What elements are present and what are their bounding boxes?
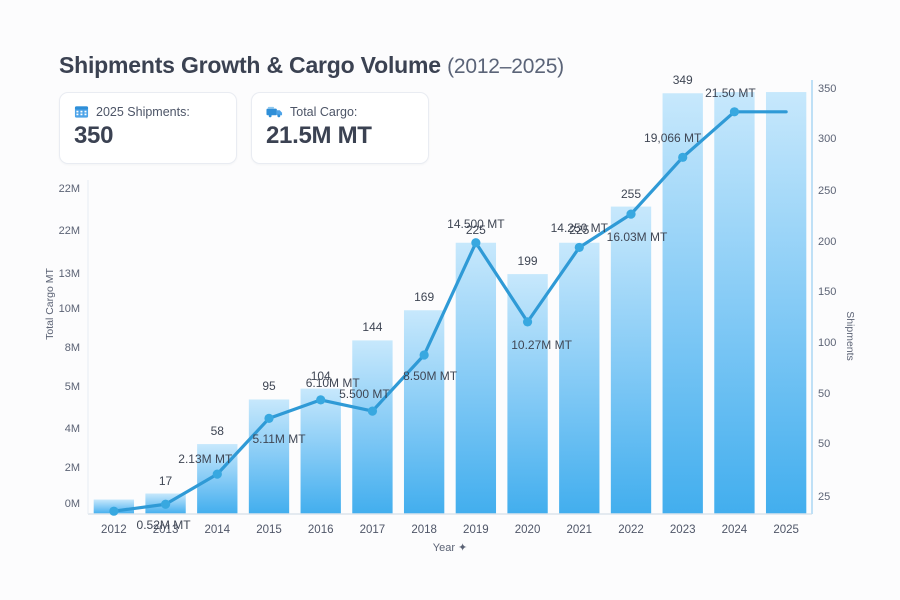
bar-label-2013: 17 — [136, 474, 196, 488]
bar-2020[interactable] — [507, 274, 547, 514]
title-main: Shipments Growth & Cargo Volume — [59, 52, 441, 78]
bar-2017[interactable] — [352, 340, 392, 514]
calendar-icon — [74, 104, 89, 119]
kpi-value-cargo: 21.5M MT — [266, 122, 412, 150]
y-tick-right-2: 250 — [818, 185, 862, 197]
y-tick-right-5: 100 — [818, 337, 862, 349]
line-label-2022: 16.03M MT — [589, 230, 685, 244]
line-label-2023: 19,066 MT — [625, 131, 721, 145]
bar-2018[interactable] — [404, 310, 444, 514]
marker-2019[interactable] — [471, 238, 480, 247]
bar-2015[interactable] — [249, 399, 289, 514]
bar-label-2018: 169 — [394, 290, 454, 304]
marker-2021[interactable] — [575, 243, 584, 252]
y-tick-right-4: 150 — [818, 286, 862, 298]
marker-2015[interactable] — [264, 414, 273, 423]
y-tick-left-8: 0M — [36, 498, 80, 510]
y-tick-left-3: 10M — [36, 303, 80, 315]
line-label-2013: 0.52M MT — [116, 518, 212, 532]
y-tick-left-1: 22M — [36, 225, 80, 237]
bar-2012[interactable] — [94, 500, 134, 514]
y-tick-right-1: 300 — [818, 133, 862, 145]
kpi-label-shipments: 2025 Shipments: — [96, 105, 190, 119]
marker-2024[interactable] — [730, 107, 739, 116]
y-tick-left-4: 8M — [36, 342, 80, 354]
line-label-2019: 14.500 MT — [428, 217, 524, 231]
marker-2023[interactable] — [678, 153, 687, 162]
marker-2012[interactable] — [109, 507, 118, 516]
line-label-2024: 21.50 MT — [682, 86, 778, 100]
marker-2018[interactable] — [420, 350, 429, 359]
kpi-value-shipments: 350 — [74, 122, 220, 150]
kpi-label-cargo: Total Cargo: — [290, 105, 357, 119]
marker-2014[interactable] — [213, 470, 222, 479]
y-tick-right-7: 50 — [818, 438, 862, 450]
line-label-2017: 5.500 MT — [316, 387, 412, 401]
marker-2013[interactable] — [161, 500, 170, 509]
kpi-card-cargo[interactable]: Total Cargo: 21.5M MT — [251, 92, 429, 164]
y-tick-left-6: 4M — [36, 423, 80, 435]
marker-2017[interactable] — [368, 407, 377, 416]
title-range: (2012–2025) — [447, 55, 564, 78]
bar-label-2020: 199 — [498, 254, 558, 268]
x-tick-2025: 2025 — [756, 524, 816, 536]
line-label-2020: 10.27M MT — [494, 338, 590, 352]
bar-2016[interactable] — [301, 389, 341, 514]
x-axis-title: Year ✦ — [390, 541, 510, 554]
bar-2023[interactable] — [663, 93, 703, 514]
y-tick-right-8: 25 — [818, 491, 862, 503]
y-tick-right-6: 50 — [818, 388, 862, 400]
line-label-2018: 8.50M MT — [382, 369, 478, 383]
bar-label-2022: 255 — [601, 187, 661, 201]
bar-2013[interactable] — [145, 494, 185, 514]
y-tick-left-7: 2M — [36, 462, 80, 474]
bar-label-2017: 144 — [342, 320, 402, 334]
y-tick-left-2: 13M — [36, 268, 80, 280]
bar-2022[interactable] — [611, 207, 651, 514]
marker-2020[interactable] — [523, 317, 532, 326]
y-tick-right-0: 350 — [818, 83, 862, 95]
line-label-2014: 2.13M MT — [157, 452, 253, 466]
y-tick-right-3: 200 — [818, 236, 862, 248]
page-title: Shipments Growth & Cargo Volume (2012–20… — [59, 52, 564, 79]
truck-icon — [266, 104, 283, 119]
chart-page: Shipments Growth & Cargo Volume (2012–20… — [0, 0, 900, 600]
marker-2022[interactable] — [626, 210, 635, 219]
kpi-card-shipments[interactable]: 2025 Shipments: 350 — [59, 92, 237, 164]
bar-2024[interactable] — [714, 92, 754, 514]
y-tick-left-0: 22M — [36, 183, 80, 195]
kpi-card-group: 2025 Shipments: 350 Total Cargo: 21.5M M… — [59, 92, 429, 164]
bar-2025[interactable] — [766, 92, 806, 514]
bar-2021[interactable] — [559, 243, 599, 514]
y-tick-left-5: 5M — [36, 381, 80, 393]
line-label-2015: 5.11M MT — [231, 432, 327, 446]
